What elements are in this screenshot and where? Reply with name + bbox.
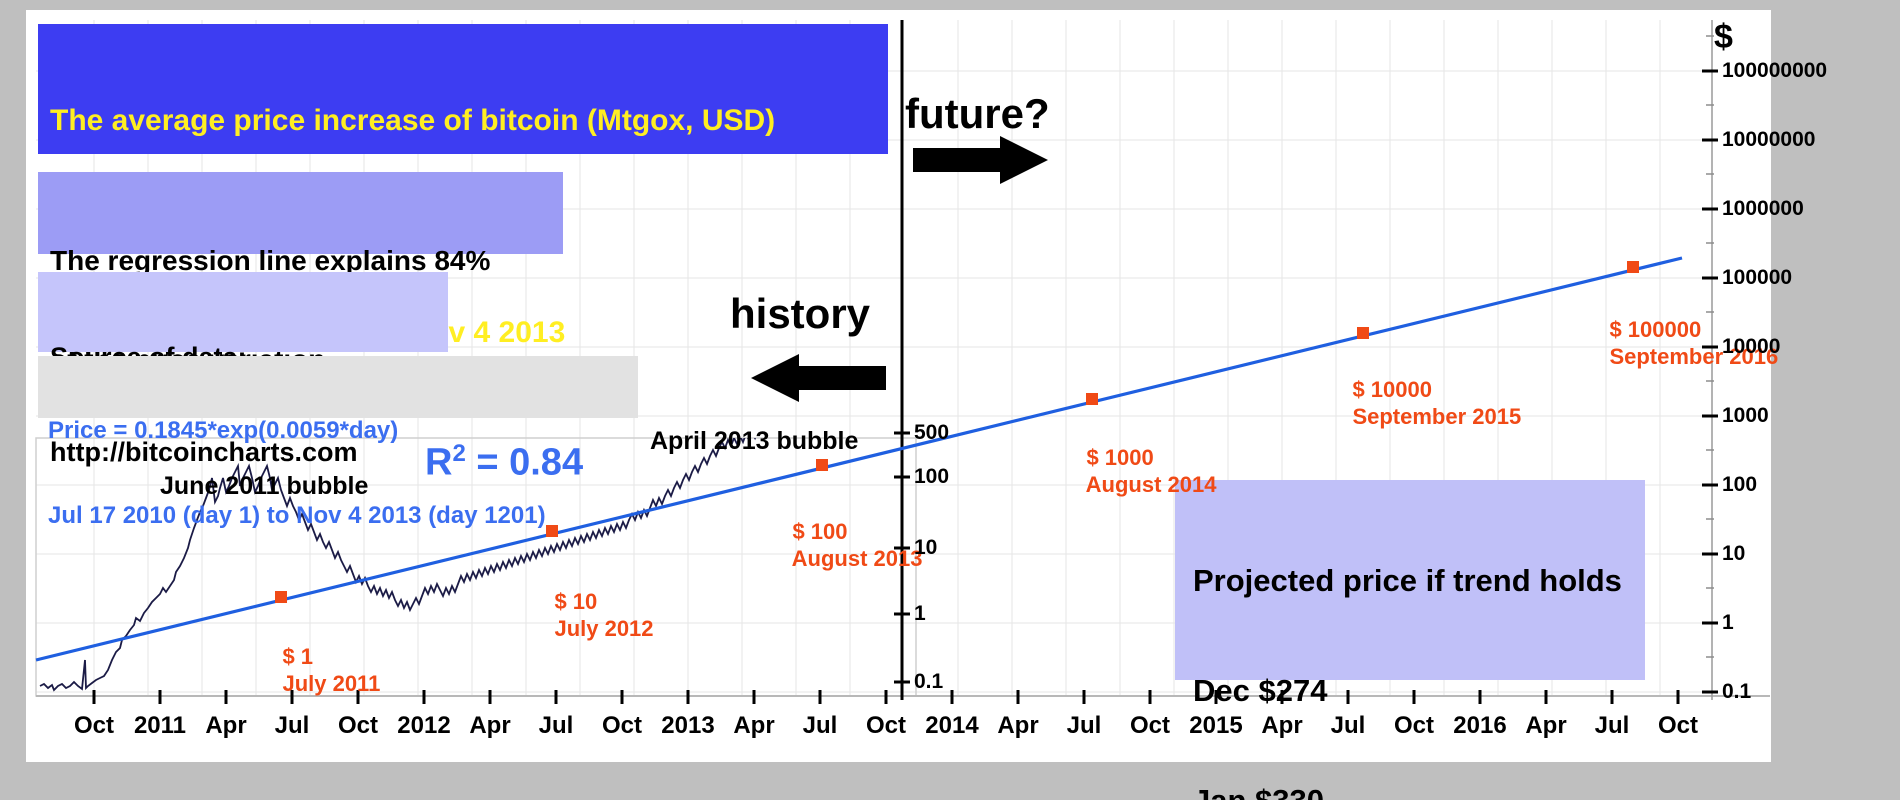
- x-tick-18: Apr: [1261, 712, 1302, 740]
- y-tick-inner-0: 500: [914, 421, 949, 445]
- milestone-price-100000: $ 100000: [1609, 317, 1701, 342]
- y-tick-outer-9: 0.1: [1722, 680, 1751, 704]
- x-tick-15: Jul: [1067, 712, 1102, 740]
- x-tick-17: 2015: [1189, 712, 1242, 740]
- milestone-price-1000: $ 1000: [1086, 445, 1153, 470]
- x-tick-11: Jul: [803, 712, 838, 740]
- x-tick-13: 2014: [925, 712, 978, 740]
- y-tick-inner-3: 1: [914, 602, 926, 626]
- r-squared-exponent: 2: [452, 440, 465, 467]
- milestone-date-1000: August 2014: [1086, 472, 1217, 497]
- projected-price-callout: Projected price if trend holds Dec $274 …: [1175, 480, 1645, 680]
- history-label: history: [730, 290, 870, 338]
- milestone-marker-1000: [1086, 393, 1098, 405]
- milestone-label-1: $ 1 July 2011: [258, 615, 380, 725]
- milestone-marker-100000: [1627, 261, 1639, 273]
- projected-row-dec: Dec $274: [1193, 673, 1635, 710]
- title-callout: The average price increase of bitcoin (M…: [38, 24, 888, 154]
- x-tick-14: Apr: [997, 712, 1038, 740]
- y-tick-outer-0: 100000000: [1722, 59, 1827, 83]
- annotation-june-2011-bubble: June 2011 bubble: [160, 472, 368, 501]
- x-tick-1: 2011: [134, 712, 186, 740]
- y-tick-outer-8: 1: [1722, 611, 1734, 635]
- y-tick-inner-1: 100: [914, 465, 949, 489]
- milestone-date-10: July 2012: [554, 616, 653, 641]
- x-tick-10: Apr: [733, 712, 774, 740]
- y-tick-outer-4: 10000: [1722, 335, 1780, 359]
- milestone-marker-100: [816, 459, 828, 471]
- x-tick-20: Oct: [1394, 712, 1434, 740]
- milestone-price-10000: $ 10000: [1352, 377, 1432, 402]
- x-tick-22: Apr: [1525, 712, 1566, 740]
- milestone-date-10000: September 2015: [1352, 404, 1521, 429]
- x-tick-9: 2013: [661, 712, 714, 740]
- projected-row-jan: Jan $330: [1193, 783, 1635, 800]
- chart-root: The average price increase of bitcoin (M…: [0, 0, 1900, 800]
- x-tick-24: Oct: [1658, 712, 1698, 740]
- x-tick-4: Oct: [338, 712, 378, 740]
- x-tick-6: Apr: [469, 712, 510, 740]
- milestone-date-1: July 2011: [282, 671, 380, 696]
- milestone-label-10000: $ 10000 September 2015: [1328, 348, 1521, 458]
- y-tick-outer-7: 10: [1722, 542, 1745, 566]
- x-tick-5: 2012: [397, 712, 450, 740]
- y-tick-inner-2: 10: [914, 536, 937, 560]
- r-squared-value: = 0.84: [466, 442, 583, 484]
- x-tick-0: Oct: [74, 712, 114, 740]
- x-tick-19: Jul: [1331, 712, 1366, 740]
- title-line-1: The average price increase of bitcoin (M…: [50, 103, 878, 138]
- milestone-marker-1: [275, 591, 287, 603]
- y-tick-outer-2: 1000000: [1722, 197, 1804, 221]
- milestone-price-10: $ 10: [554, 589, 597, 614]
- formula-callout: Price = 0.1845*exp(0.0059*day) Jul 17 20…: [38, 356, 638, 418]
- y-tick-outer-6: 100: [1722, 473, 1757, 497]
- x-tick-12: Oct: [866, 712, 906, 740]
- r-squared-symbol: R: [425, 442, 452, 484]
- annotation-april-2013-bubble: April 2013 bubble: [650, 427, 858, 456]
- milestone-label-1000: $ 1000 August 2014: [1062, 416, 1216, 526]
- milestone-label-100: $ 100 August 2013: [768, 490, 922, 600]
- y-tick-outer-5: 1000: [1722, 404, 1769, 428]
- source-callout: Source of data: http://bitcoincharts.com: [38, 272, 448, 352]
- x-tick-3: Jul: [275, 712, 310, 740]
- y-axis-currency-symbol: $: [1714, 18, 1733, 57]
- regression-callout: The regression line explains 84% of the …: [38, 172, 563, 254]
- x-tick-7: Jul: [539, 712, 574, 740]
- x-tick-23: Jul: [1595, 712, 1630, 740]
- milestone-label-10: $ 10 July 2012: [530, 560, 654, 670]
- x-tick-2: Apr: [205, 712, 246, 740]
- formula-date-range: Jul 17 2010 (day 1) to Nov 4 2013 (day 1…: [48, 502, 628, 530]
- y-tick-inner-4: 0.1: [914, 670, 943, 694]
- future-label: future?: [905, 90, 1050, 138]
- r-squared-label: R2 = 0.84: [425, 440, 583, 485]
- x-tick-16: Oct: [1130, 712, 1170, 740]
- y-tick-outer-3: 100000: [1722, 266, 1792, 290]
- y-tick-outer-1: 10000000: [1722, 128, 1815, 152]
- milestone-date-100: August 2013: [792, 546, 923, 571]
- milestone-price-100: $ 100: [792, 519, 847, 544]
- projected-heading: Projected price if trend holds: [1193, 563, 1635, 600]
- milestone-marker-10000: [1357, 327, 1369, 339]
- x-tick-8: Oct: [602, 712, 642, 740]
- future-arrow-icon: [913, 136, 1048, 184]
- x-tick-21: 2016: [1453, 712, 1506, 740]
- milestone-price-1: $ 1: [282, 644, 313, 669]
